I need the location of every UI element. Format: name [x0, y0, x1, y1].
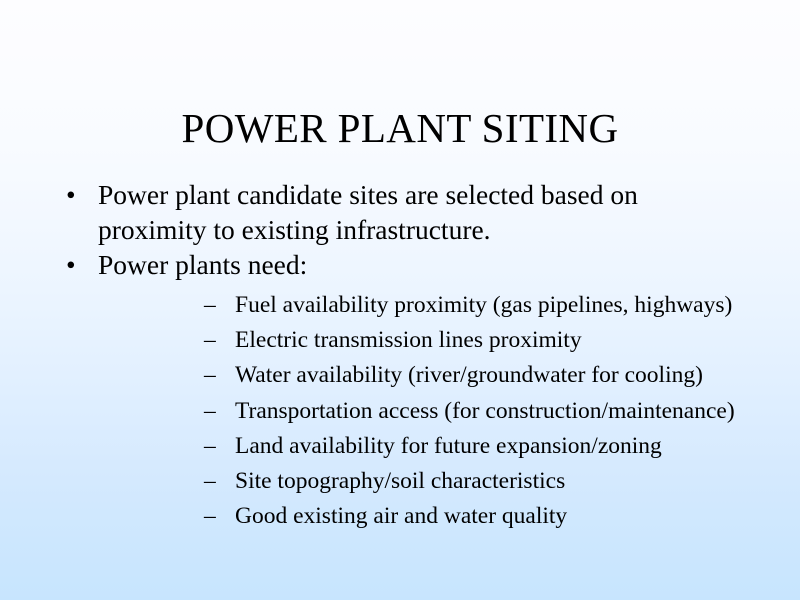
bullet-point-icon: • [66, 177, 76, 212]
bullet-point-icon: • [66, 247, 76, 282]
sub-bullet-item-7-text: Good existing air and water quality [235, 503, 567, 529]
bullet-item-1-text: Power plant candidate sites are selected… [98, 179, 638, 245]
bullet-list-level1: • Power plant candidate sites are select… [0, 177, 800, 534]
sub-bullet-item-3: – Water availability (river/groundwater … [98, 358, 730, 393]
dash-bullet-icon: – [204, 323, 216, 358]
bullet-item-1: • Power plant candidate sites are select… [0, 177, 800, 247]
sub-bullet-item-2-text: Electric transmission lines proximity [235, 327, 582, 353]
sub-bullet-item-2: – Electric transmission lines proximity [98, 323, 730, 358]
dash-bullet-icon: – [204, 288, 216, 323]
presentation-slide: POWER PLANT SITING • Power plant candida… [0, 0, 800, 600]
sub-bullet-item-5: – Land availability for future expansion… [98, 429, 730, 464]
sub-bullet-item-7: – Good existing air and water quality [98, 499, 730, 534]
sub-bullet-item-1: – Fuel availability proximity (gas pipel… [98, 288, 730, 323]
bullet-item-2-text: Power plants need: [98, 249, 307, 280]
slide-title: POWER PLANT SITING [0, 105, 800, 151]
dash-bullet-icon: – [204, 394, 216, 429]
slide-body-outline: • Power plant candidate sites are select… [0, 177, 800, 534]
bullet-list-level2: – Fuel availability proximity (gas pipel… [98, 288, 730, 534]
sub-bullet-item-4: – Transportation access (for constructio… [98, 394, 730, 429]
dash-bullet-icon: – [204, 499, 216, 534]
dash-bullet-icon: – [204, 464, 216, 499]
sub-bullet-item-6-text: Site topography/soil characteristics [235, 468, 565, 494]
sub-bullet-item-3-text: Water availability (river/groundwater fo… [235, 362, 703, 388]
sub-bullet-item-5-text: Land availability for future expansion/z… [235, 433, 662, 459]
dash-bullet-icon: – [204, 358, 216, 393]
sub-bullet-item-6: – Site topography/soil characteristics [98, 464, 730, 499]
bullet-item-2: • Power plants need: – Fuel availability… [0, 247, 800, 534]
sub-bullet-item-4-text: Transportation access (for construction/… [235, 398, 735, 424]
sub-bullet-item-1-text: Fuel availability proximity (gas pipelin… [235, 292, 732, 318]
dash-bullet-icon: – [204, 429, 216, 464]
